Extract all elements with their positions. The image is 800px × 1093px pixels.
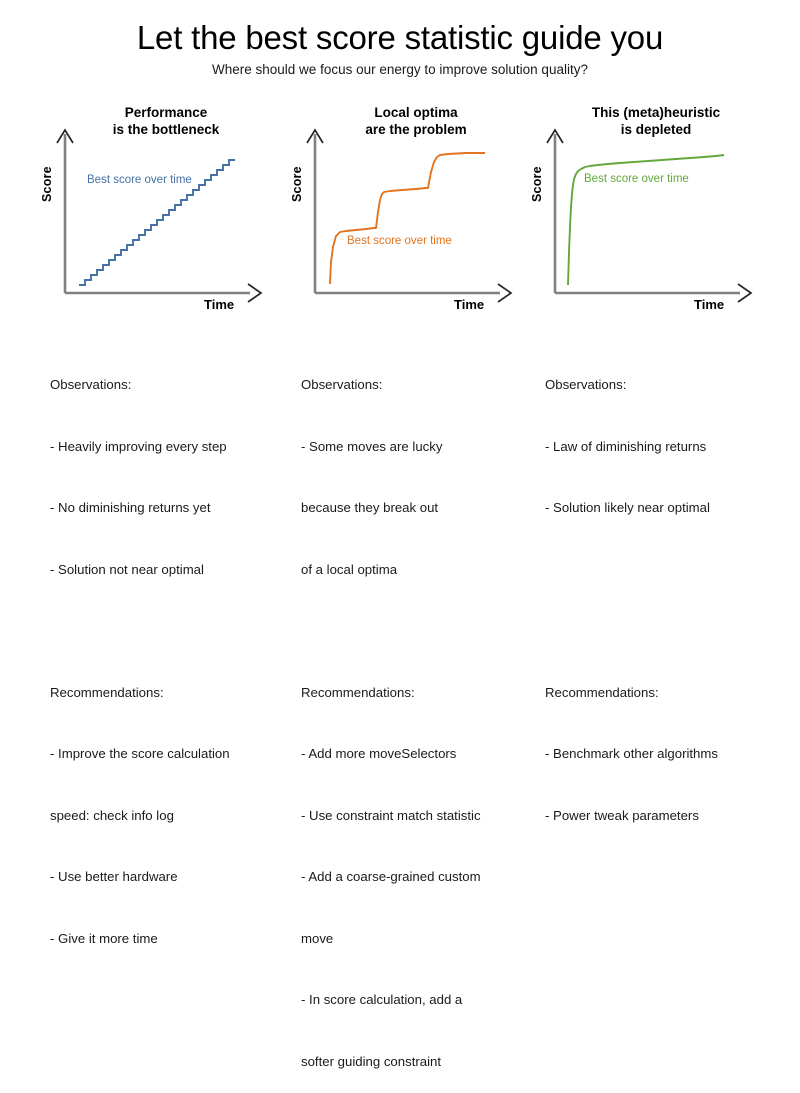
chart-canvas-depleted <box>526 112 786 312</box>
observation-line: of a local optima <box>301 560 527 581</box>
recommendation-line: - Use better hardware <box>50 867 300 888</box>
chart-panel-performance: Performance is the bottleneck Score Time… <box>36 104 296 319</box>
notes-column-performance: Observations: - Heavily improving every … <box>50 334 300 970</box>
chart-panel-local-optima: Local optima are the problem Score Time … <box>286 104 546 319</box>
observation-line: - Solution likely near optimal <box>545 498 785 519</box>
series-label-best-score: Best score over time <box>87 174 192 186</box>
page-title: Let the best score statistic guide you <box>0 18 800 58</box>
recommendation-line: - Give it more time <box>50 929 300 950</box>
series-line-best-score <box>330 153 485 284</box>
series-label-best-score: Best score over time <box>584 173 689 185</box>
recommendations-heading: Recommendations: <box>301 683 527 704</box>
recommendation-line: - Use constraint match statistic <box>301 806 527 827</box>
recommendation-line: softer guiding constraint <box>301 1052 527 1073</box>
section-spacer <box>50 621 300 642</box>
observation-line: - Heavily improving every step <box>50 437 300 458</box>
observation-line: - Law of diminishing returns <box>545 437 785 458</box>
y-axis-label: Score <box>40 166 54 202</box>
recommendation-line: - Power tweak parameters <box>545 806 785 827</box>
recommendation-line: - Benchmark other algorithms <box>545 744 785 765</box>
notes-column-local-optima: Observations: - Some moves are lucky bec… <box>301 334 527 1093</box>
recommendation-line: - Add more moveSelectors <box>301 744 527 765</box>
y-axis-label: Score <box>530 166 544 202</box>
recommendation-line: - In score calculation, add a <box>301 990 527 1011</box>
observation-line: - No diminishing returns yet <box>50 498 300 519</box>
notes-column-depleted: Observations: - Law of diminishing retur… <box>545 334 785 847</box>
recommendation-line: move <box>301 929 527 950</box>
observations-heading: Observations: <box>545 375 785 396</box>
chart-canvas-performance <box>36 112 296 312</box>
recommendation-line: - Add a coarse-grained custom <box>301 867 527 888</box>
observation-line: - Some moves are lucky <box>301 437 527 458</box>
y-axis-label: Score <box>290 166 304 202</box>
chart-panel-depleted: This (meta)heuristic is depleted Score T… <box>526 104 786 319</box>
x-axis-label: Time <box>454 297 484 312</box>
observations-heading: Observations: <box>301 375 527 396</box>
x-axis-label: Time <box>204 297 234 312</box>
page-subtitle: Where should we focus our energy to impr… <box>0 61 800 79</box>
chart-canvas-local-optima <box>286 112 546 312</box>
section-spacer <box>545 621 785 642</box>
x-axis-label: Time <box>694 297 724 312</box>
observation-line: because they break out <box>301 498 527 519</box>
recommendation-line: speed: check info log <box>50 806 300 827</box>
section-spacer <box>301 621 527 642</box>
section-spacer <box>545 560 785 581</box>
recommendation-line: - Improve the score calculation <box>50 744 300 765</box>
series-label-best-score: Best score over time <box>347 235 452 247</box>
recommendations-heading: Recommendations: <box>50 683 300 704</box>
recommendations-heading: Recommendations: <box>545 683 785 704</box>
observation-line: - Solution not near optimal <box>50 560 300 581</box>
observations-heading: Observations: <box>50 375 300 396</box>
